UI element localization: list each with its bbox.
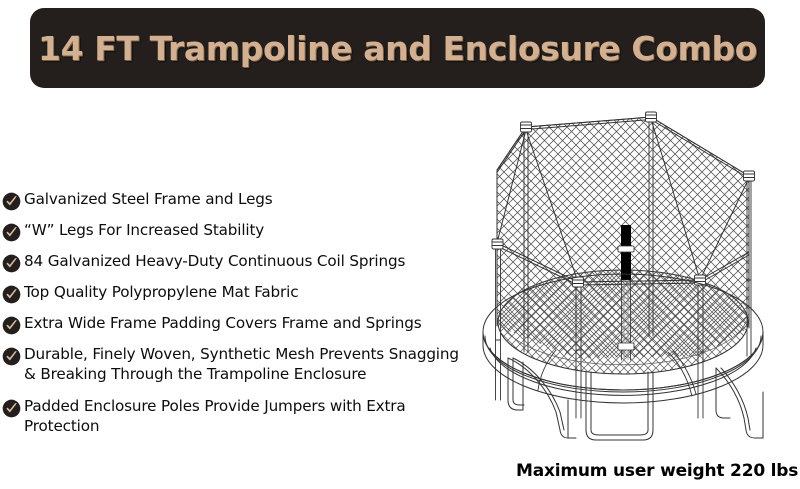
- max-weight-label: Maximum user weight 220 lbs: [516, 461, 798, 481]
- check-circle-icon: [2, 316, 21, 335]
- feature-text: Padded Enclosure Poles Provide Jumpers w…: [24, 397, 472, 436]
- list-item: Galvanized Steel Frame and Legs: [2, 190, 472, 211]
- feature-text: “W” Legs For Increased Stability: [24, 221, 264, 241]
- check-circle-icon: [2, 192, 21, 211]
- list-item: Top Quality Polypropylene Mat Fabric: [2, 283, 472, 304]
- feature-text: 84 Galvanized Heavy-Duty Continuous Coil…: [24, 252, 405, 272]
- feature-text: Top Quality Polypropylene Mat Fabric: [24, 283, 298, 303]
- check-circle-icon: [2, 347, 21, 366]
- feature-list: Galvanized Steel Frame and Legs “W” Legs…: [2, 190, 472, 449]
- list-item: Durable, Finely Woven, Synthetic Mesh Pr…: [2, 345, 472, 384]
- title-banner: 14 FT Trampoline and Enclosure Combo: [30, 8, 765, 88]
- check-circle-icon: [2, 254, 21, 273]
- check-circle-icon: [2, 399, 21, 418]
- list-item: Padded Enclosure Poles Provide Jumpers w…: [2, 397, 472, 436]
- feature-text: Durable, Finely Woven, Synthetic Mesh Pr…: [24, 345, 472, 384]
- page-title: 14 FT Trampoline and Enclosure Combo: [38, 29, 757, 68]
- list-item: 84 Galvanized Heavy-Duty Continuous Coil…: [2, 252, 472, 273]
- list-item: Extra Wide Frame Padding Covers Frame an…: [2, 314, 472, 335]
- feature-text: Extra Wide Frame Padding Covers Frame an…: [24, 314, 422, 334]
- check-circle-icon: [2, 223, 21, 242]
- product-feature-page: 14 FT Trampoline and Enclosure Combo Gal…: [0, 0, 800, 489]
- trampoline-illustration: [468, 100, 800, 460]
- list-item: “W” Legs For Increased Stability: [2, 221, 472, 242]
- check-circle-icon: [2, 285, 21, 304]
- feature-text: Galvanized Steel Frame and Legs: [24, 190, 273, 210]
